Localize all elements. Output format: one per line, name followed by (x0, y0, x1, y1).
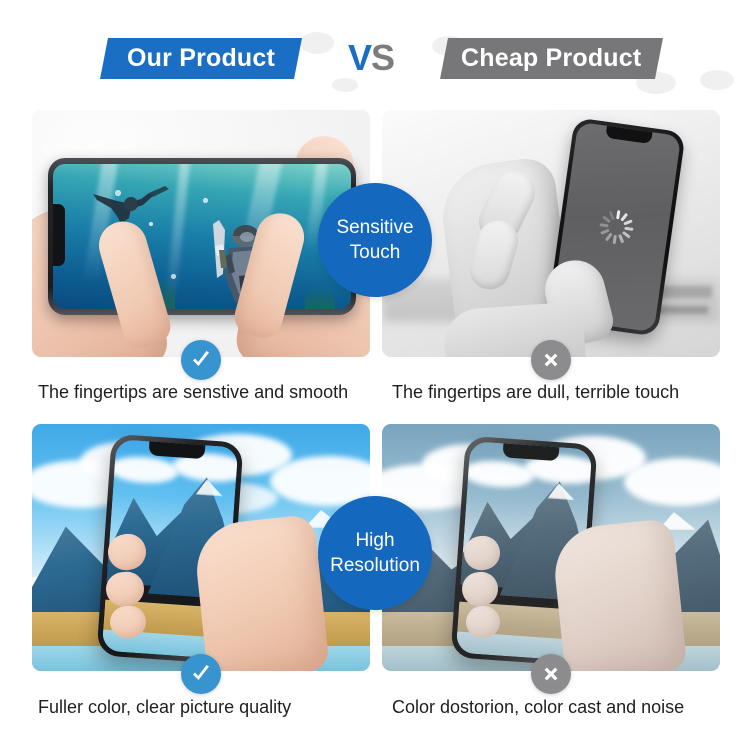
cheap-product-label: Cheap Product (461, 44, 641, 73)
cross-glyph (540, 663, 562, 685)
vs-letter-v: V (348, 37, 371, 78)
badge-line-2: Resolution (330, 553, 420, 578)
caption-sensitive-touch-bad: The fingertips are dull, terrible touch (392, 382, 679, 403)
badge-line-1: Sensitive (336, 215, 413, 240)
decorative-circle (700, 70, 734, 90)
our-product-label: Our Product (127, 44, 275, 73)
check-icon (181, 340, 221, 380)
seaweed (305, 285, 335, 309)
check-icon (181, 654, 221, 694)
check-glyph (189, 662, 213, 686)
bubble (171, 274, 176, 279)
badge-line-2: Touch (350, 240, 401, 265)
decorative-circle (332, 78, 358, 92)
phone-screen-game (53, 164, 351, 309)
caption-high-resolution-bad: Color dostorion, color cast and noise (392, 697, 684, 718)
check-glyph (189, 348, 213, 372)
phone-notch (53, 204, 65, 266)
swimming-diver (87, 180, 175, 228)
cross-glyph (540, 349, 562, 371)
our-product-banner: Our Product (100, 38, 302, 79)
bubble (203, 198, 208, 203)
panel-sensitive-touch-bad (382, 110, 720, 357)
cross-icon (531, 654, 571, 694)
scene-greyscale-loading-phone (382, 110, 720, 357)
feature-badge-high-resolution: High Resolution (318, 496, 432, 610)
scene-mountain-washed-out (382, 424, 720, 671)
caption-high-resolution-good: Fuller color, clear picture quality (38, 697, 291, 718)
comparison-header: Our Product VS Cheap Product (0, 0, 750, 100)
badge-line-1: High (355, 528, 394, 553)
phone-notch (605, 126, 652, 144)
vs-label: VS (348, 36, 412, 80)
caption-sensitive-touch-good: The fingertips are senstive and smooth (38, 382, 348, 403)
feature-badge-sensitive-touch: Sensitive Touch (318, 183, 432, 297)
loading-spinner-icon (597, 208, 635, 246)
cross-icon (531, 340, 571, 380)
holding-hand (192, 514, 330, 671)
cheap-product-banner: Cheap Product (440, 38, 663, 79)
phone-landscape (48, 158, 356, 315)
vs-letter-s: S (371, 37, 394, 78)
decorative-circle (300, 32, 334, 54)
panel-high-resolution-bad (382, 424, 720, 671)
holding-hand (550, 518, 687, 671)
